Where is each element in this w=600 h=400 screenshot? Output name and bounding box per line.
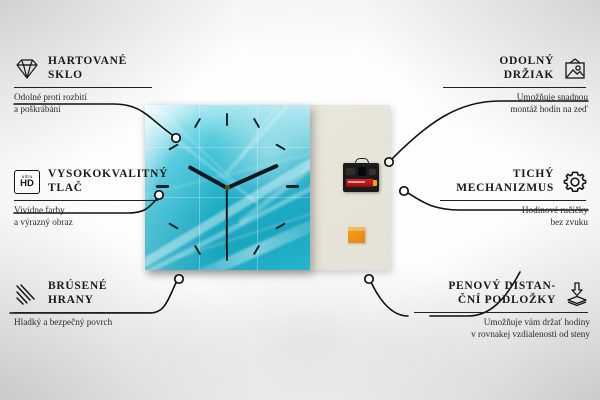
feature-description: Umožňuje snadnou montáž hodin na zeď (443, 92, 588, 115)
infographic-canvas: HARTOVANÉ SKLO Odolné proti rozbití a po… (0, 0, 600, 400)
feature-title: ODOLNÝ DRŽIAK (499, 55, 554, 82)
feature-divider (440, 200, 586, 201)
feature-description: Hladký a bezpečný povrch (14, 317, 156, 328)
connector-node-right-middle (400, 187, 408, 195)
connector-node-left-top (172, 134, 180, 142)
feature-description: Umožňuje vám držať hodiny v rovnakej vzd… (414, 317, 590, 340)
ultra-hd-icon: ultra HD (14, 170, 40, 194)
feature-heading-row: ultra HD VYSOKOKVALITNÝ TLAČ (14, 168, 160, 195)
connector-node-left-bottom (175, 275, 183, 283)
feature-description: Odolné proti rozbití a poškrábání (14, 92, 154, 115)
connector-node-right-top (385, 158, 393, 166)
feature-hq-print: ultra HD VYSOKOKVALITNÝ TLAČ Vivídne far… (14, 168, 160, 228)
feature-ground-edges: BRÚSENÉ HRANY Hladký a bezpečný povrch (14, 280, 156, 329)
foam-spacer-icon (564, 282, 590, 306)
feature-divider (414, 312, 588, 313)
feature-heading-row: TICHÝ MECHANIZMUS (440, 168, 588, 195)
feature-divider (14, 200, 158, 201)
feature-title: PENOVÝ DISTAN- ČNÍ PODLOŽKY (448, 280, 556, 307)
feature-title: VYSOKOKVALITNÝ TLAČ (48, 168, 168, 195)
feature-title: BRÚSENÉ HRANY (48, 280, 107, 307)
feature-divider (14, 87, 152, 88)
connector-right-bottom-tail (370, 280, 408, 316)
diamond-icon (14, 57, 40, 81)
feature-durable-hanger: ODOLNÝ DRŽIAK Umožňuje snadnou montáž ho… (443, 55, 588, 115)
connector-node-right-bottom (365, 275, 373, 283)
feature-tempered-glass: HARTOVANÉ SKLO Odolné proti rozbití a po… (14, 55, 154, 115)
feature-description: Vivídne farby a výrazný obraz (14, 205, 160, 228)
feature-divider (443, 87, 586, 88)
ground-edges-icon (14, 282, 40, 306)
feature-title: HARTOVANÉ SKLO (48, 55, 127, 82)
feature-heading-row: ODOLNÝ DRŽIAK (443, 55, 588, 82)
feature-heading-row: BRÚSENÉ HRANY (14, 280, 156, 307)
feature-heading-row: HARTOVANÉ SKLO (14, 55, 154, 82)
gear-icon (562, 170, 588, 194)
feature-foam-spacers: PENOVÝ DISTAN- ČNÍ PODLOŽKY Umožňuje vám… (414, 280, 590, 340)
ultra-hd-big-label: HD (20, 179, 34, 189)
picture-hanger-icon (562, 57, 588, 81)
feature-divider (14, 312, 154, 313)
feature-description: Hodinové ručičky bez zvuku (440, 205, 588, 228)
feature-title: TICHÝ MECHANIZMUS (456, 168, 554, 195)
feature-silent-mechanism: TICHÝ MECHANIZMUS Hodinové ručičky bez z… (440, 168, 588, 228)
feature-heading-row: PENOVÝ DISTAN- ČNÍ PODLOŽKY (414, 280, 590, 307)
